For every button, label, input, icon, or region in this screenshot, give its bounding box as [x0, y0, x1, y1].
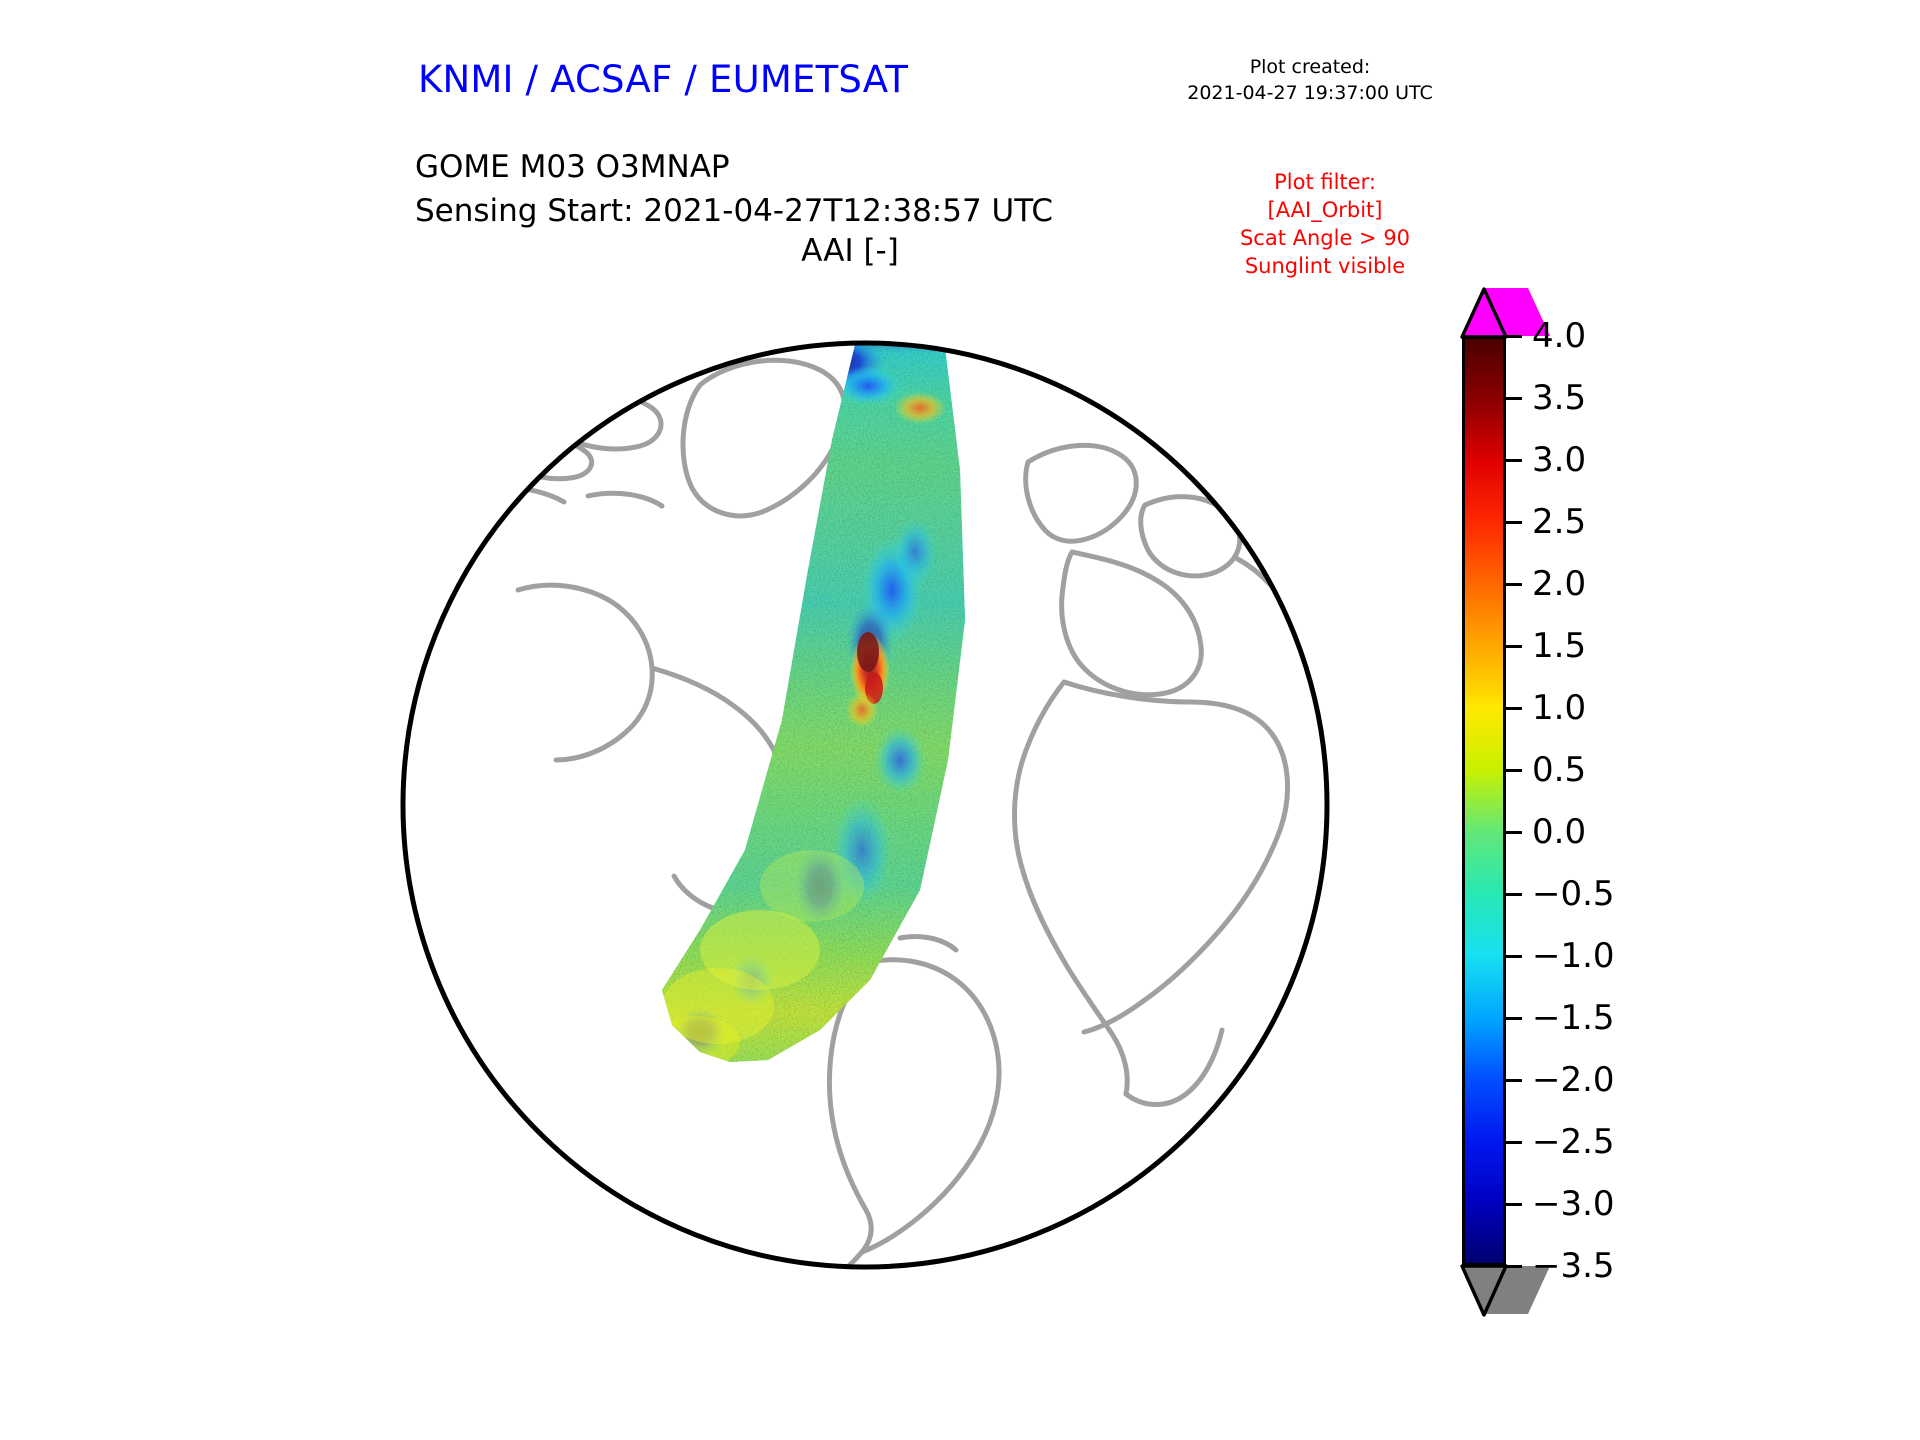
- colorbar-tick-label: 1.5: [1532, 629, 1586, 663]
- plot-filter-title: Plot filter:: [1180, 168, 1470, 196]
- colorbar-tick: [1506, 893, 1522, 896]
- colorbar-tick-label: −3.0: [1532, 1187, 1615, 1221]
- colorbar-tick-label: 0.0: [1532, 815, 1586, 849]
- colorbar-tick-label: −2.5: [1532, 1125, 1615, 1159]
- colorbar-tick-label: 2.0: [1532, 567, 1586, 601]
- colorbar-tick: [1506, 335, 1522, 338]
- variable-title: AAI [-]: [500, 233, 1200, 269]
- colorbar-tick: [1506, 769, 1522, 772]
- plot-filter-line-0: [AAI_Orbit]: [1180, 196, 1470, 224]
- dataset-info: GOME M03 O3MNAP Sensing Start: 2021-04-2…: [415, 145, 1053, 233]
- colorbar-tick: [1506, 1265, 1522, 1268]
- colorbar-tick-label: −1.0: [1532, 939, 1615, 973]
- colorbar-under-triangle-outline: [1459, 1263, 1509, 1317]
- colorbar-tick: [1506, 1203, 1522, 1206]
- colorbar-tick: [1506, 521, 1522, 524]
- colorbar-tick-label: −1.5: [1532, 1001, 1615, 1035]
- colorbar-tick-label: 1.0: [1532, 691, 1586, 725]
- colorbar-tick-label: 3.0: [1532, 443, 1586, 477]
- colorbar-tick: [1506, 831, 1522, 834]
- colorbar-tick: [1506, 1079, 1522, 1082]
- plot-filter-line-2: Sunglint visible: [1180, 252, 1470, 280]
- plot-created-value: 2021-04-27 19:37:00 UTC: [1160, 80, 1460, 106]
- organisation-title: KNMI / ACSAF / EUMETSAT: [418, 58, 908, 101]
- colorbar-body: [1462, 336, 1506, 1266]
- colorbar-tick: [1506, 707, 1522, 710]
- colorbar-tick-label: 4.0: [1532, 319, 1586, 353]
- colorbar-tick-label: 3.5: [1532, 381, 1586, 415]
- colorbar-tick: [1506, 583, 1522, 586]
- colorbar-tick: [1506, 1017, 1522, 1020]
- colorbar-tick-label: 0.5: [1532, 753, 1586, 787]
- plot-filter-block: Plot filter: [AAI_Orbit] Scat Angle > 90…: [1180, 168, 1470, 280]
- dataset-name: GOME M03 O3MNAP: [415, 145, 1053, 189]
- colorbar-tick-label: −2.0: [1532, 1063, 1615, 1097]
- sensing-start: Sensing Start: 2021-04-27T12:38:57 UTC: [415, 189, 1053, 233]
- colorbar-tick-label: −3.5: [1532, 1249, 1615, 1283]
- colorbar-over-triangle-outline: [1459, 287, 1509, 339]
- colorbar: 4.03.53.02.52.01.51.00.50.0−0.5−1.0−1.5−…: [1440, 288, 1690, 1328]
- colorbar-tick: [1506, 397, 1522, 400]
- colorbar-tick: [1506, 459, 1522, 462]
- colorbar-tick-label: −0.5: [1532, 877, 1615, 911]
- plot-created-block: Plot created: 2021-04-27 19:37:00 UTC: [1160, 54, 1460, 106]
- colorbar-tick-label: 2.5: [1532, 505, 1586, 539]
- colorbar-tick: [1506, 955, 1522, 958]
- colorbar-tick: [1506, 1141, 1522, 1144]
- plot-filter-line-1: Scat Angle > 90: [1180, 224, 1470, 252]
- colorbar-tick: [1506, 645, 1522, 648]
- colorbar-gradient: [1465, 339, 1503, 1263]
- map-globe: [400, 290, 1330, 1320]
- plot-created-label: Plot created:: [1160, 54, 1460, 80]
